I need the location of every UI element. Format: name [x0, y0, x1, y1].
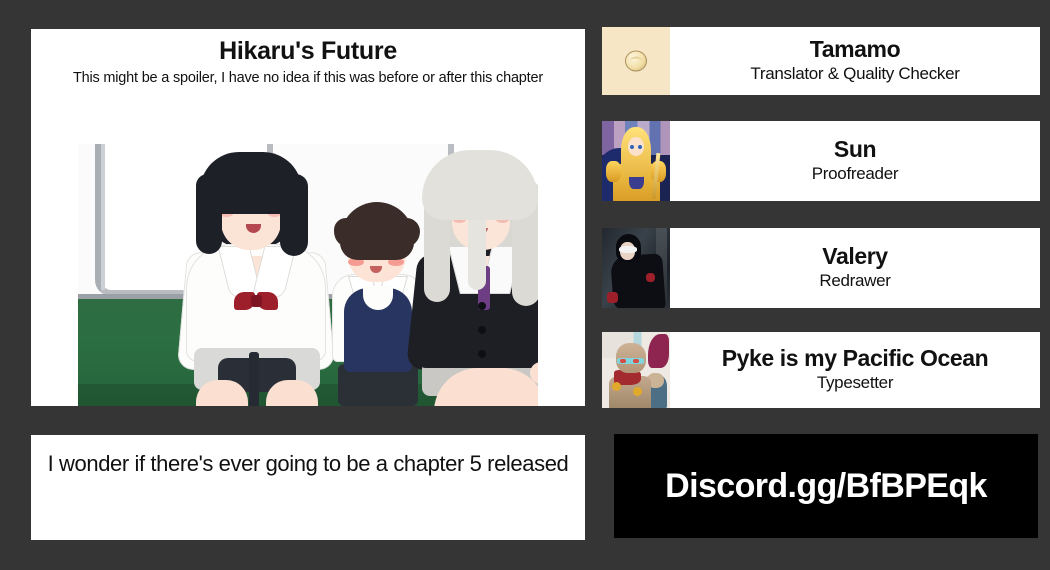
credit-body: Tamamo Translator & Quality Checker — [670, 27, 1040, 95]
caption-panel: I wonder if there's ever going to be a c… — [31, 435, 585, 540]
story-header: Hikaru's Future This might be a spoiler,… — [31, 29, 585, 92]
credit-name: Pyke is my Pacific Ocean — [722, 346, 989, 372]
necktie — [249, 352, 259, 406]
credit-role: Translator & Quality Checker — [750, 64, 959, 84]
blazer-button — [478, 302, 486, 310]
eye-right — [638, 145, 642, 149]
credit-name: Tamamo — [810, 37, 900, 63]
credit-row: Valery Redrawer — [602, 228, 1040, 308]
story-panel: Hikaru's Future This might be a spoiler,… — [31, 29, 585, 406]
character-silver-haired-girl — [408, 150, 538, 406]
credit-row: Sun Proofreader — [602, 121, 1040, 201]
navy-vest — [344, 288, 412, 372]
red-glove — [646, 273, 655, 283]
discord-invite-banner[interactable]: Discord.gg/BfBPEqk — [614, 434, 1038, 538]
hair — [340, 202, 414, 260]
blazer-button — [478, 326, 486, 334]
red-glove — [607, 292, 618, 303]
valery-joker-avatar — [602, 228, 670, 308]
credit-body: Sun Proofreader — [670, 121, 1040, 201]
white-mask-icon — [619, 246, 637, 253]
page-subtitle: This might be a spoiler, I have no idea … — [43, 69, 573, 89]
ribbon-knot — [251, 295, 262, 307]
magenta-plume — [648, 334, 668, 369]
credit-role: Typesetter — [817, 373, 893, 393]
gold-gem — [633, 387, 642, 396]
credit-body: Pyke is my Pacific Ocean Typesetter — [670, 332, 1040, 408]
red-ribbon — [234, 292, 278, 312]
caption-text: I wonder if there's ever going to be a c… — [34, 435, 583, 478]
bangs — [200, 152, 302, 214]
credit-row: Tamamo Translator & Quality Checker — [602, 27, 1040, 95]
credit-role: Redrawer — [819, 271, 890, 291]
bangs — [422, 150, 538, 220]
credits-column: Tamamo Translator & Quality Checker Sun … — [602, 27, 1040, 540]
credit-row: Pyke is my Pacific Ocean Typesetter — [602, 332, 1040, 408]
gold-gem — [612, 382, 621, 391]
discord-invite-link[interactable]: Discord.gg/BfBPEqk — [665, 467, 987, 506]
credit-name: Sun — [834, 137, 876, 163]
hair-strand-middle — [468, 210, 486, 290]
pauldron-left — [606, 161, 621, 182]
character-dark-haired-girl — [176, 152, 336, 406]
manga-illustration — [78, 144, 538, 406]
blazer-button — [478, 350, 486, 358]
tamamo-mochi-avatar — [602, 27, 670, 95]
credit-body: Valery Redrawer — [670, 228, 1040, 308]
credit-name: Valery — [822, 244, 887, 270]
eye-left — [630, 145, 634, 149]
left-column: Hikaru's Future This might be a spoiler,… — [31, 29, 585, 540]
eye-left — [620, 359, 626, 363]
sun-blonde-knight-avatar — [602, 121, 670, 201]
mochi-icon — [625, 51, 647, 72]
credit-role: Proofreader — [812, 164, 898, 184]
page-title: Hikaru's Future — [43, 37, 573, 66]
pyke-avatar — [602, 332, 670, 408]
